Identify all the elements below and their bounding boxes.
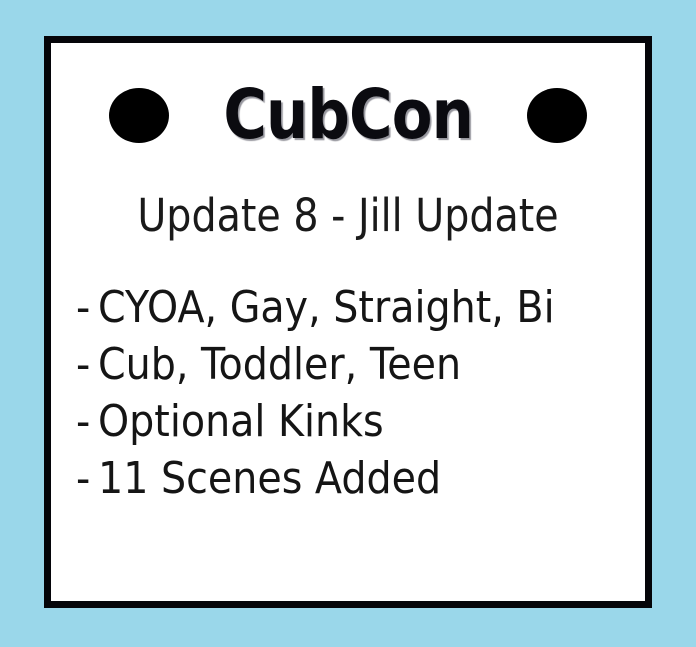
bullet-dash-icon: - [76,450,96,507]
list-item-label: Optional Kinks [98,393,384,450]
poster-canvas: CubCon Update 8 - Jill Update - CYOA, Ga… [0,0,696,647]
list-item-label: Cub, Toddler, Teen [98,336,461,393]
black-circle-icon-left [109,88,169,143]
black-circle-icon-right [527,88,587,143]
list-item: - 11 Scenes Added [76,450,635,507]
list-item: - CYOA, Gay, Straight, Bi [76,279,635,336]
list-item: - Optional Kinks [76,393,635,450]
bullet-dash-icon: - [76,279,96,336]
title-row: CubCon [51,69,645,161]
page-title: CubCon [223,81,473,150]
bullet-dash-icon: - [76,393,96,450]
list-item: - Cub, Toddler, Teen [76,336,635,393]
poster-card: CubCon Update 8 - Jill Update - CYOA, Ga… [44,36,652,608]
page-subtitle: Update 8 - Jill Update [87,193,610,238]
bullet-dash-icon: - [76,336,96,393]
list-item-label: 11 Scenes Added [98,450,441,507]
list-item-label: CYOA, Gay, Straight, Bi [98,279,555,336]
update-bullet-list: - CYOA, Gay, Straight, Bi - Cub, Toddler… [76,279,635,507]
